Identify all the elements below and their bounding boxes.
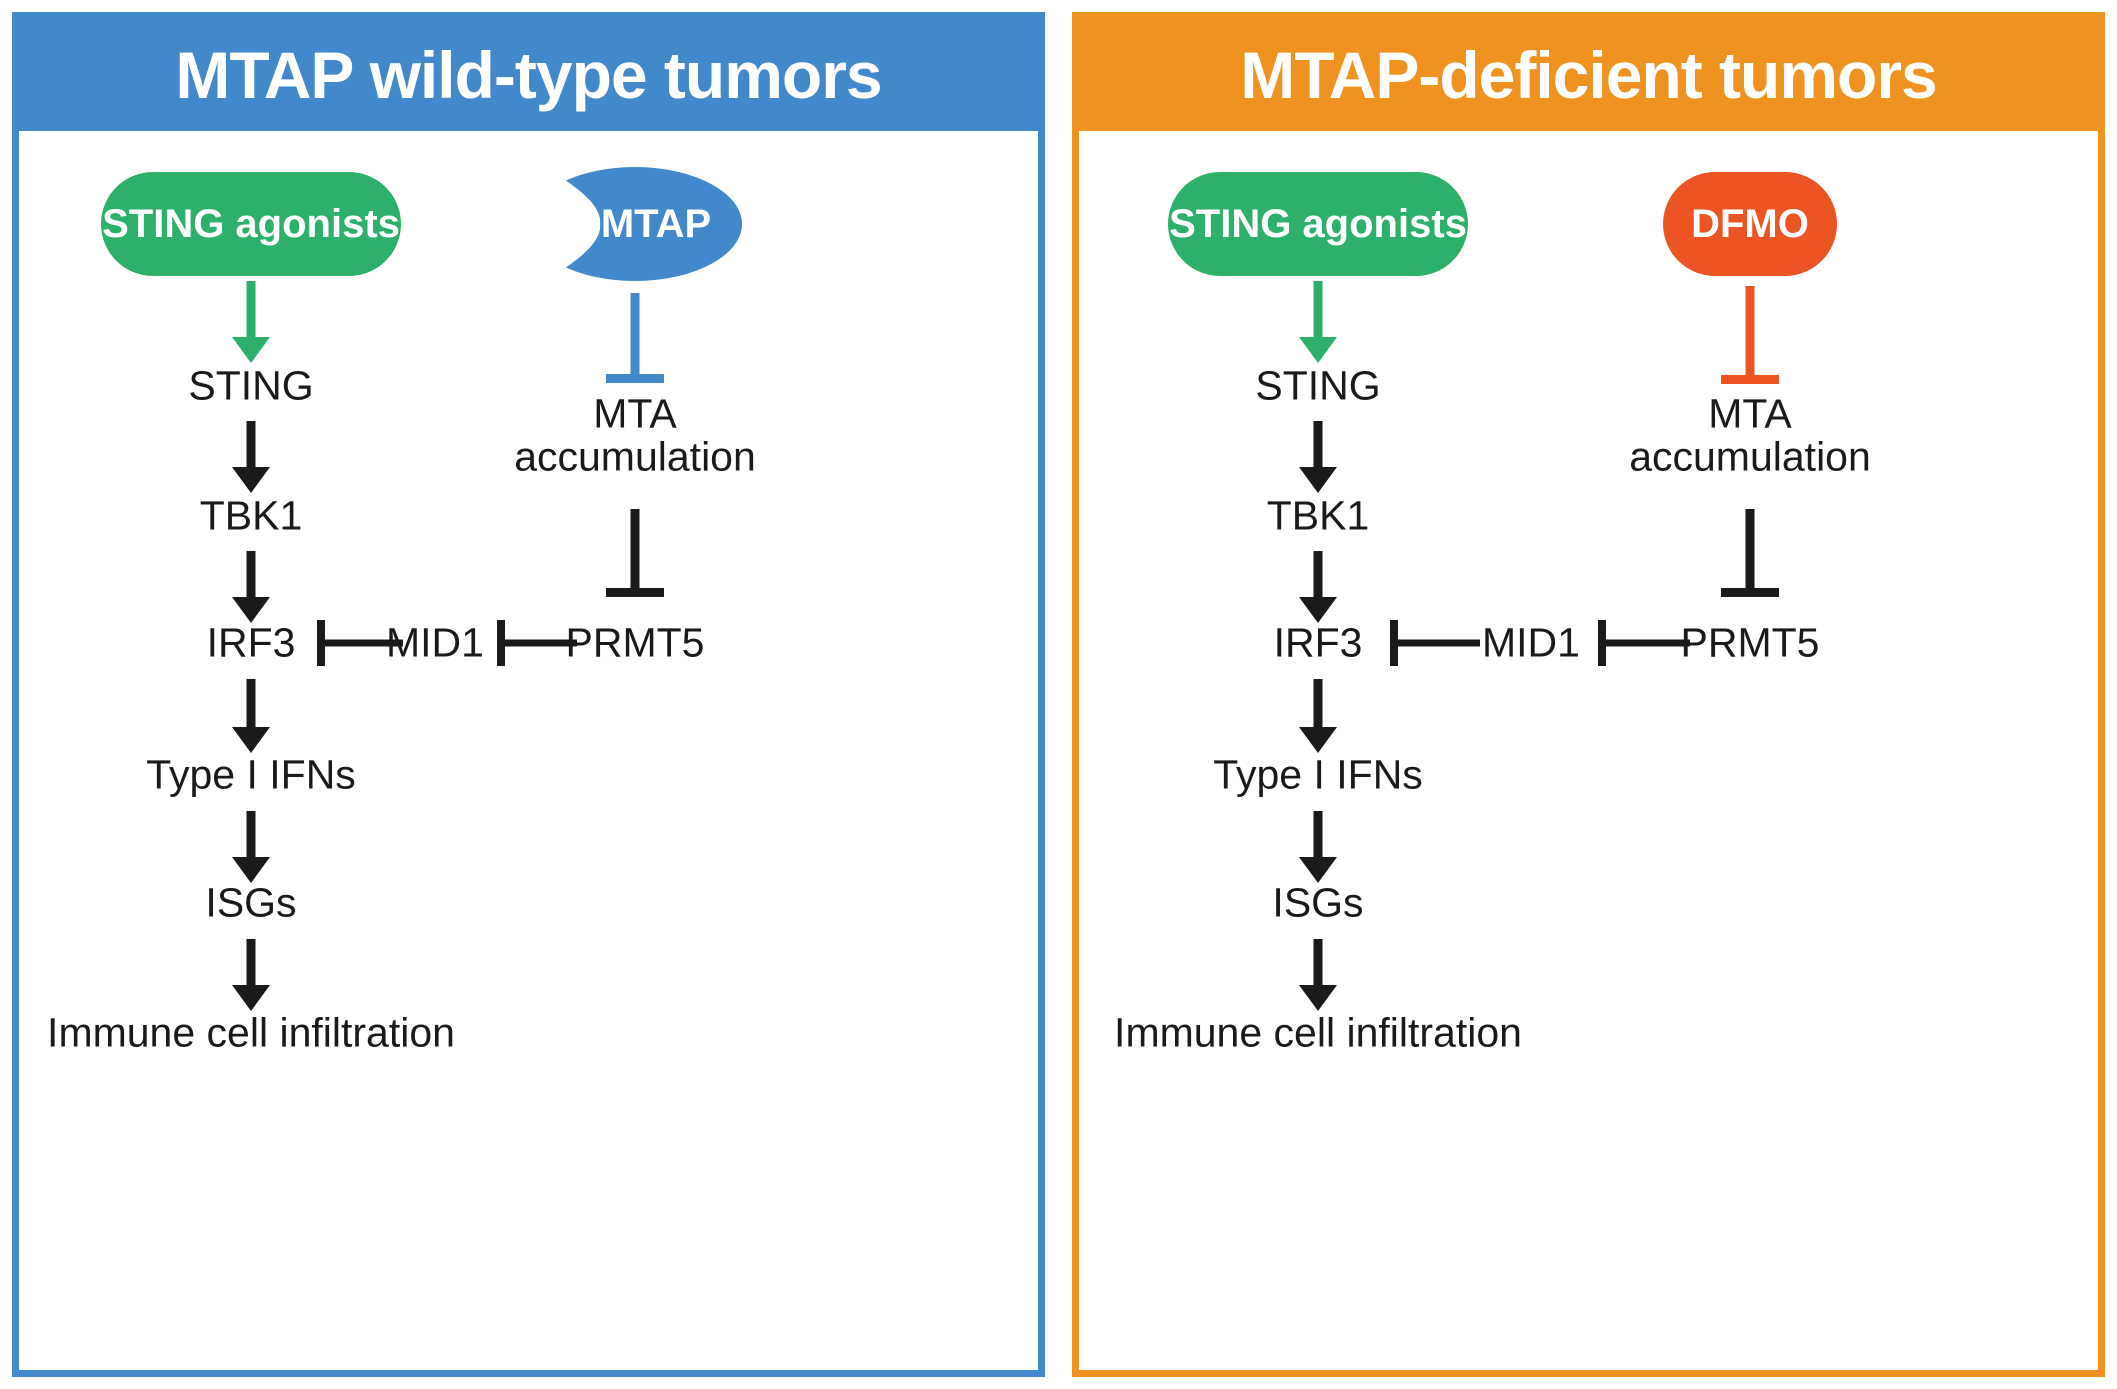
node-mid1: MID1	[1482, 621, 1580, 664]
node-mta-line1: MTA	[485, 393, 785, 436]
node-prmt5: PRMT5	[1681, 621, 1820, 664]
node-irf3: IRF3	[1274, 621, 1363, 664]
pathway-figure: MTAP wild-type tumors STING agonists MTA…	[0, 0, 2117, 1389]
arrow-type-i-ifns-to-isgs	[1299, 811, 1337, 883]
node-sting-agonists[interactable]: STING agonists	[101, 172, 401, 276]
node-isgs: ISGs	[1272, 881, 1363, 924]
panel-title-mtap-deficient: MTAP-deficient tumors	[1079, 19, 2098, 131]
arrow-tbk1-to-irf3	[232, 551, 270, 623]
inhibition-dfmo-to-mta	[1721, 286, 1779, 384]
inhibition-prmt5-to-mid1	[1598, 620, 1690, 666]
node-sting: STING	[188, 364, 313, 407]
node-sting: STING	[1255, 364, 1380, 407]
node-prmt5: PRMT5	[566, 621, 705, 664]
inhibition-mid1-to-irf3	[1390, 620, 1480, 666]
node-mtap[interactable]: MTAP	[528, 167, 742, 281]
arrow-type-i-ifns-to-isgs	[232, 811, 270, 883]
arrow-sting-agonists-to-sting	[232, 281, 270, 363]
panel-mtap-wild-type: MTAP wild-type tumors STING agonists MTA…	[12, 12, 1045, 1377]
node-tbk1: TBK1	[1267, 494, 1370, 537]
node-isgs: ISGs	[205, 881, 296, 924]
node-tbk1: TBK1	[200, 494, 303, 537]
panel-mtap-deficient: MTAP-deficient tumors STING agonists DFM…	[1072, 12, 2105, 1377]
node-mta-accumulation: MTA accumulation	[1600, 393, 1900, 480]
arrow-tbk1-to-irf3	[1299, 551, 1337, 623]
arrow-sting-agonists-to-sting	[1299, 281, 1337, 363]
node-dfmo[interactable]: DFMO	[1663, 172, 1837, 276]
inhibition-mtap-to-mta	[606, 293, 664, 383]
panel-title-mtap-wild-type: MTAP wild-type tumors	[19, 19, 1038, 131]
inhibition-mta-to-prmt5	[1721, 509, 1779, 597]
node-mta-line2: accumulation	[485, 436, 785, 479]
node-immune-cell-infiltration: Immune cell infiltration	[47, 1011, 455, 1054]
arrow-sting-to-tbk1	[1299, 421, 1337, 493]
mtap-ellipse-with-bite-icon	[528, 167, 742, 281]
node-type-i-ifns: Type I IFNs	[1213, 753, 1423, 796]
inhibition-mid1-to-irf3	[317, 620, 403, 666]
node-mta-line1: MTA	[1600, 393, 1900, 436]
node-type-i-ifns: Type I IFNs	[146, 753, 356, 796]
panel-body-mtap-wild-type: STING agonists MTAP	[19, 131, 1038, 1370]
arrow-irf3-to-type-i-ifns	[1299, 679, 1337, 753]
panel-body-mtap-deficient: STING agonists DFMO STING MTA	[1079, 131, 2098, 1370]
node-mta-accumulation: MTA accumulation	[485, 393, 785, 480]
arrow-isgs-to-immune-cell-infiltration	[1299, 939, 1337, 1011]
arrow-isgs-to-immune-cell-infiltration	[232, 939, 270, 1011]
node-sting-agonists[interactable]: STING agonists	[1168, 172, 1468, 276]
arrow-irf3-to-type-i-ifns	[232, 679, 270, 753]
arrow-sting-to-tbk1	[232, 421, 270, 493]
inhibition-prmt5-to-mid1	[497, 620, 577, 666]
node-irf3: IRF3	[207, 621, 296, 664]
inhibition-mta-to-prmt5	[606, 509, 664, 597]
node-immune-cell-infiltration: Immune cell infiltration	[1114, 1011, 1522, 1054]
node-mta-line2: accumulation	[1600, 436, 1900, 479]
